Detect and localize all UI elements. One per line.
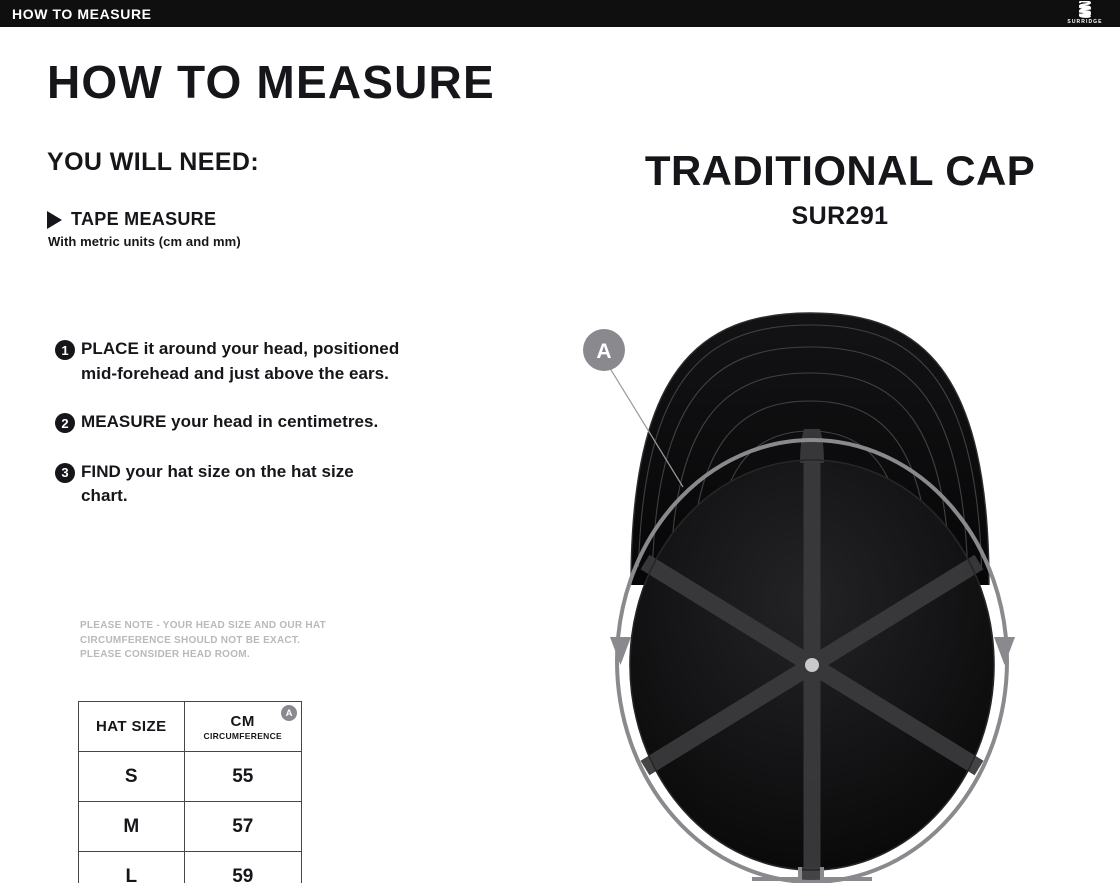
table-row: L 59 [79,852,302,883]
step-item: 3 FIND your hat size on the hat size cha… [55,460,455,509]
table-header-hat-size: HAT SIZE [79,702,185,752]
requirement-item: TAPE MEASURE [47,209,216,230]
step-number-badge: 3 [55,463,75,483]
measurement-marker-a-icon: A [281,705,297,721]
brand-name: SURRIDGE [1067,19,1102,25]
measurement-marker-a-label: A [596,340,611,363]
table-header-cm: CM CIRCUMFERENCE A [184,702,301,752]
cap-top-view-icon: A [500,267,1120,883]
requirement-detail: With metric units (cm and mm) [48,234,241,249]
measure-arrow-left-icon [610,637,631,665]
top-bar-title: HOW TO MEASURE [12,6,152,22]
step-number-badge: 2 [55,413,75,433]
table-header-cm-sublabel: CIRCUMFERENCE [185,731,301,741]
hat-size-table: HAT SIZE CM CIRCUMFERENCE A S 55 M 57 L … [78,701,302,883]
disclaimer-note: PLEASE NOTE - YOUR HEAD SIZE AND OUR HAT… [80,619,326,663]
product-name: TRADITIONAL CAP [560,147,1120,195]
page-title: HOW TO MEASURE [47,59,495,105]
steps-list: 1 PLACE it around your head, positioned … [55,337,455,533]
table-cell-cm: 55 [184,752,301,802]
table-cell-size: M [79,802,185,852]
table-cell-cm: 57 [184,802,301,852]
surridge-s-logo-icon [1077,1,1093,18]
table-cell-size: L [79,852,185,883]
instructions-column: HOW TO MEASURE YOU WILL NEED: TAPE MEASU… [0,27,560,883]
table-cell-cm: 59 [184,852,301,883]
table-header-hat-size-label: HAT SIZE [96,718,166,735]
table-header-cm-label: CM [230,713,255,730]
step-text: FIND your hat size on the hat size chart… [81,460,401,509]
top-bar: HOW TO MEASURE SURRIDGE [0,0,1120,27]
you-will-need-heading: YOU WILL NEED: [47,148,259,177]
table-header-row: HAT SIZE CM CIRCUMFERENCE A [79,702,302,752]
product-column: TRADITIONAL CAP SUR291 [560,27,1120,883]
table-row: M 57 [79,802,302,852]
triangle-bullet-icon [47,211,62,229]
step-item: 1 PLACE it around your head, positioned … [55,337,455,386]
step-text: MEASURE your head in centimetres. [81,410,378,435]
step-item: 2 MEASURE your head in centimetres. [55,410,455,435]
brand-logo: SURRIDGE [1058,1,1112,26]
crown-button-icon [805,658,819,672]
measure-arrow-right-icon [994,637,1015,665]
step-number-badge: 1 [55,340,75,360]
step-text: PLACE it around your head, positioned mi… [81,337,401,386]
how-to-measure-page: HOW TO MEASURE SURRIDGE HOW TO MEASURE Y… [0,0,1120,883]
table-row: S 55 [79,752,302,802]
requirement-label: TAPE MEASURE [71,209,216,230]
product-code: SUR291 [560,202,1120,231]
table-cell-size: S [79,752,185,802]
